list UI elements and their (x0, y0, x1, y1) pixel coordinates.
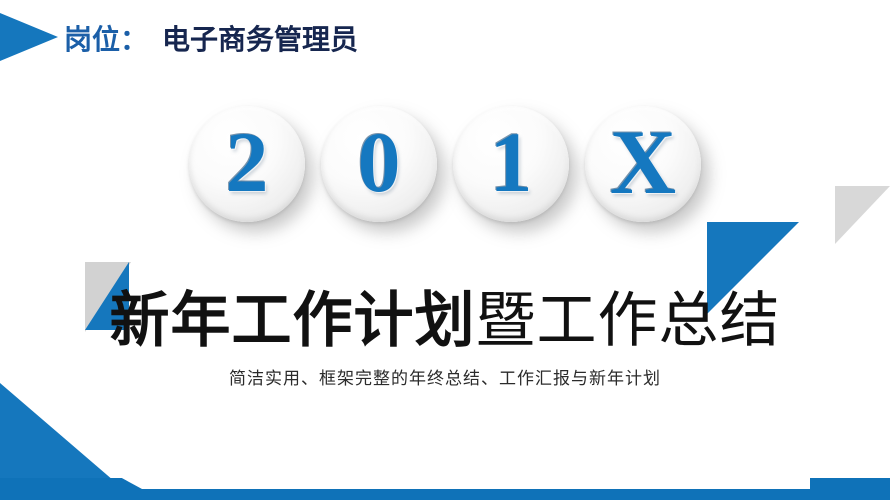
decor-triangle-blue-bottom-left (0, 383, 128, 493)
job-position-label: 岗位： (64, 18, 148, 58)
decor-triangle-gray-right (835, 186, 890, 244)
year-char-1: 2 (226, 119, 269, 205)
main-title-bold-part: 新年工作计划 (110, 287, 476, 354)
right-arrow-icon (0, 13, 58, 61)
year-circle-3: 1 (453, 106, 569, 222)
job-position-value: 电子商务管理员 (162, 18, 358, 58)
presentation-slide: 岗位： 电子商务管理员 2 0 1 X 新年工作计划暨工作总结 简洁实用、框架完… (0, 0, 890, 500)
bottom-bar-notch (120, 477, 810, 489)
main-title-light-part: 暨工作总结 (476, 287, 781, 354)
year-circle-2: 0 (321, 106, 437, 222)
main-title: 新年工作计划暨工作总结 (0, 272, 890, 359)
year-badge-group: 2 0 1 X (0, 98, 890, 230)
year-circle-4: X (585, 106, 701, 222)
header-text-group: 岗位： 电子商务管理员 (64, 18, 358, 58)
year-char-4: X (610, 116, 676, 208)
subtitle: 简洁实用、框架完整的年终总结、工作汇报与新年计划 (0, 364, 890, 389)
year-circle-1: 2 (189, 106, 305, 222)
year-char-3: 1 (490, 119, 533, 205)
year-char-2: 0 (358, 119, 401, 205)
